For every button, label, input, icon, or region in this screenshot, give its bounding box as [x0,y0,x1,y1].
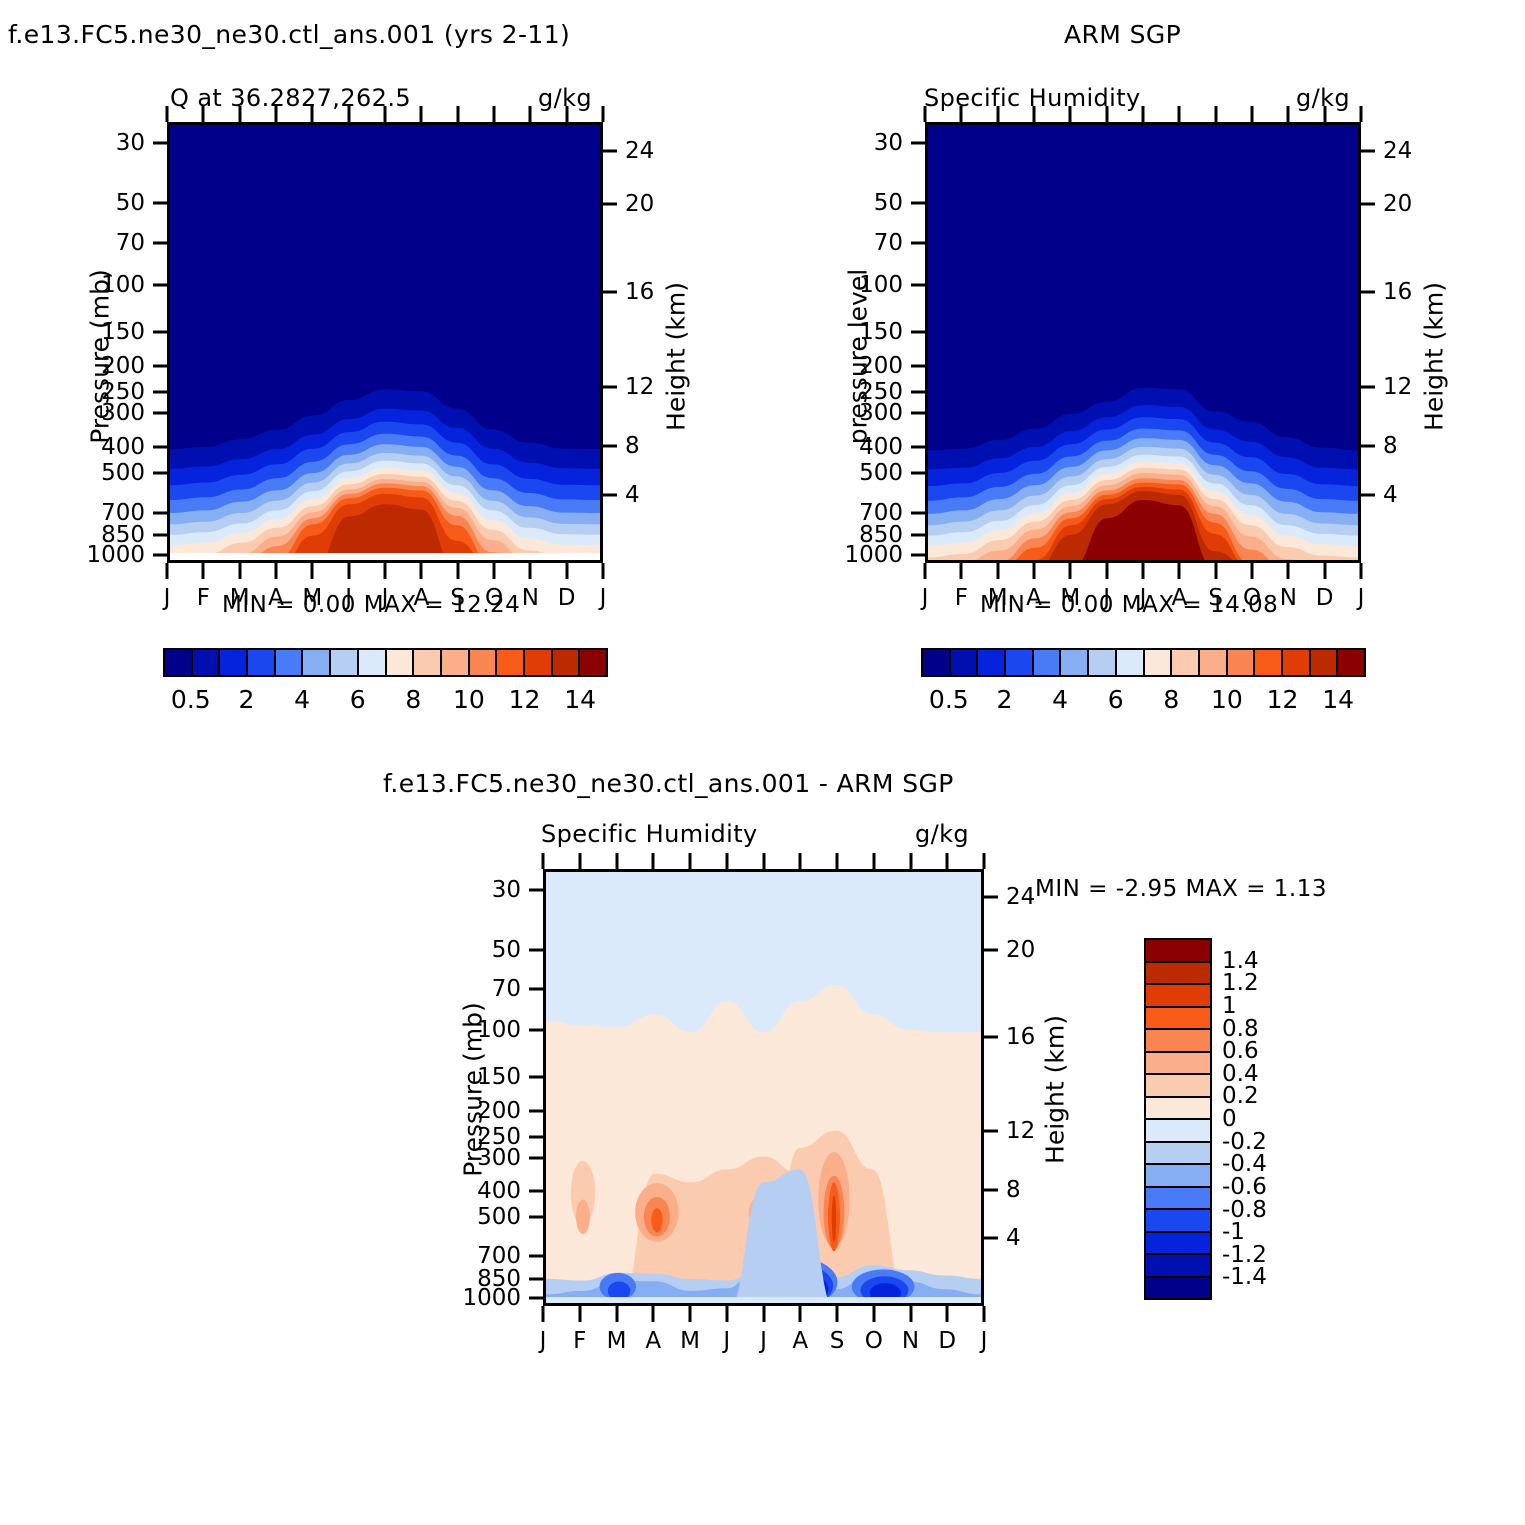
colorbar-cell[interactable] [1338,650,1364,675]
x-tick-top [578,853,581,869]
y-tick-label: 400 [67,434,145,460]
y2-tick [603,385,617,388]
colorbar-cell[interactable] [387,650,415,675]
y-tick-label: 200 [825,353,903,379]
y-tick [153,202,167,205]
colorbar-label: 2 [238,685,254,714]
x-tick-label: A [792,1328,808,1354]
x-tick-top [689,853,692,869]
colorbar-cell[interactable] [1034,650,1062,675]
y-tick [911,472,925,475]
x-tick-top [1251,106,1254,122]
x-tick-top [799,853,802,869]
x-tick-label: O [865,1328,883,1354]
y-tick-label: 1000 [443,1285,521,1311]
panel-obs-title: ARM SGP [1064,20,1181,49]
x-tick-label: J [1358,585,1365,611]
x-tick-top [983,853,986,869]
panel-diff-plot-area [543,869,984,1306]
x-tick-top [1105,106,1108,122]
y-tick [153,331,167,334]
colorbar-label: -1.4 [1222,1264,1267,1290]
y-tick-label: 150 [67,319,145,345]
y2-tick-label: 12 [1006,1118,1035,1144]
x-tick-top [872,853,875,869]
y-tick-label: 70 [443,976,521,1002]
colorbar-label: 14 [564,685,596,714]
y2-tick [603,445,617,448]
colorbar-cell[interactable] [1146,940,1210,963]
x-tick [1287,563,1290,579]
x-tick-top [602,106,605,122]
y-tick-label: 200 [67,353,145,379]
y2-tick [1361,385,1375,388]
y2-tick-label: 20 [625,191,654,217]
y-tick [529,1277,543,1280]
x-tick [578,1306,581,1322]
panel-diff-units: g/kg [915,820,969,848]
x-tick-top [1069,106,1072,122]
colorbar-label: 10 [453,685,485,714]
y-tick [911,241,925,244]
panel-model-minmax: MIN = 0.00 MAX = 12.24 [222,592,520,618]
x-tick-top [924,106,927,122]
x-tick [1142,563,1145,579]
colorbar-cell[interactable] [1146,963,1210,986]
x-tick [615,1306,618,1322]
x-tick [166,563,169,579]
colorbar-cell[interactable] [276,650,304,675]
x-tick [384,563,387,579]
colorbar-cell[interactable] [580,650,606,675]
y-tick [153,534,167,537]
y-tick [529,1296,543,1299]
x-tick [1033,563,1036,579]
colorbar-cell[interactable] [951,650,979,675]
colorbar-label: 0.5 [171,685,211,714]
x-tick-top [275,106,278,122]
x-tick-top [1323,106,1326,122]
colorbar-cell[interactable] [1117,650,1145,675]
y-tick [911,142,925,145]
colorbar-cell[interactable] [248,650,276,675]
x-tick [924,563,927,579]
y-tick [153,472,167,475]
x-tick [1069,563,1072,579]
y2-tick [603,202,617,205]
y2-tick-label: 4 [1006,1225,1021,1251]
y2-tick-label: 8 [1006,1177,1021,1203]
colorbar-cell[interactable] [1146,1278,1210,1299]
y-tick-label: 500 [825,460,903,486]
colorbar-cell[interactable] [1146,1255,1210,1278]
y-tick [911,511,925,514]
x-tick [1360,563,1363,579]
x-tick-top [1360,106,1363,122]
colorbar-cell[interactable] [1146,1098,1210,1121]
y-tick [911,390,925,393]
colorbar-label: 2 [996,685,1012,714]
surface-strip [170,553,600,560]
colorbar-cell[interactable] [220,650,248,675]
x-tick-label: J [723,1328,730,1354]
colorbar-cell[interactable] [442,650,470,675]
y-tick [911,202,925,205]
x-tick [311,563,314,579]
x-tick-label: N [1280,585,1297,611]
y2-tick [984,1036,998,1039]
x-tick [1105,563,1108,579]
y-tick-label: 100 [825,272,903,298]
x-tick-top [384,106,387,122]
y-tick-label: 50 [825,190,903,216]
y-tick [529,1190,543,1193]
y-tick-label: 50 [443,937,521,963]
x-tick [275,563,278,579]
x-tick-label: F [573,1328,586,1354]
colorbar-cell[interactable] [331,650,359,675]
y2-tick-label: 24 [1006,884,1035,910]
y2-tick [984,1130,998,1133]
y2-tick [603,149,617,152]
x-tick-top [529,106,532,122]
x-tick-label: N [902,1328,919,1354]
x-tick [1214,563,1217,579]
y-tick-label: 70 [825,230,903,256]
x-tick-top [542,853,545,869]
colorbar-label: 14 [1322,685,1354,714]
colorbar-cell[interactable] [1146,1053,1210,1076]
panel-obs-colorbar[interactable] [921,648,1366,677]
colorbar-cell[interactable] [303,650,331,675]
y-tick [529,1076,543,1079]
y-tick-label: 400 [443,1178,521,1204]
colorbar-label: 6 [350,685,366,714]
colorbar-cell[interactable] [978,650,1006,675]
y-tick-label: 500 [443,1204,521,1230]
y-tick-label: 500 [67,460,145,486]
panel-obs-plot-area [925,122,1361,563]
x-tick [456,563,459,579]
panel-diff-subtitle-left: Specific Humidity [541,820,758,848]
y-tick [529,1029,543,1032]
y-tick [529,1135,543,1138]
x-tick-top [615,853,618,869]
y-tick [153,511,167,514]
x-tick-label: D [1316,585,1334,611]
x-tick [529,563,532,579]
colorbar-cell[interactable] [1146,1165,1210,1188]
colorbar-cell[interactable] [1200,650,1228,675]
y2-tick-label: 24 [625,138,654,164]
panel-model-title: f.e13.FC5.ne30_ne30.ctl_ans.001 (yrs 2-1… [8,20,570,49]
colorbar-cell[interactable] [1061,650,1089,675]
x-tick-label: M [680,1328,700,1354]
x-tick [1251,563,1254,579]
y-tick [153,390,167,393]
y-tick [911,331,925,334]
y-tick [153,241,167,244]
colorbar-cell[interactable] [1146,1008,1210,1031]
x-tick [909,1306,912,1322]
y2-tick-label: 16 [1006,1024,1035,1050]
y-tick-label: 100 [67,272,145,298]
y-tick-label: 30 [825,130,903,156]
y2-tick [1361,445,1375,448]
x-tick-top [238,106,241,122]
colorbar-label: 6 [1108,685,1124,714]
diff-orange-feb-core [576,1200,590,1234]
x-tick-top [166,106,169,122]
x-tick-label: J [922,585,929,611]
y-tick [529,1109,543,1112]
y2-tick [1361,202,1375,205]
colorbar-cell[interactable] [193,650,221,675]
panel-diff-y2-axis-title: Height (km) [1041,980,1070,1200]
colorbar-cell[interactable] [1146,1030,1210,1053]
colorbar-cell[interactable] [497,650,525,675]
y-tick-label: 150 [443,1064,521,1090]
y-tick-label: 1000 [825,542,903,568]
x-tick [872,1306,875,1322]
x-tick-label: S [830,1328,845,1354]
y-tick-label: 200 [443,1098,521,1124]
x-tick-top [456,106,459,122]
y2-tick [984,1237,998,1240]
panel-model-colorbar[interactable] [163,648,608,677]
y-tick [911,446,925,449]
colorbar-cell[interactable] [359,650,387,675]
y2-tick [984,1189,998,1192]
y-tick [911,553,925,556]
x-tick [799,1306,802,1322]
x-tick-top [762,853,765,869]
colorbar-cell[interactable] [1089,650,1117,675]
y2-tick-label: 24 [1383,138,1412,164]
y2-tick-label: 12 [625,374,654,400]
y2-tick-label: 12 [1383,374,1412,400]
x-tick-label: N [522,585,539,611]
y-tick [153,553,167,556]
y-tick [911,412,925,415]
y-tick-label: 30 [443,877,521,903]
x-tick-top [960,106,963,122]
x-tick-top [311,106,314,122]
x-tick-label: J [540,1328,547,1354]
y2-tick-label: 20 [1383,191,1412,217]
colorbar-cell[interactable] [923,650,951,675]
colorbar-cell[interactable] [1146,1075,1210,1098]
colorbar-label: 4 [1052,685,1068,714]
colorbar-cell[interactable] [1146,1143,1210,1166]
panel-diff-colorbar[interactable] [1144,938,1212,1300]
y2-tick-label: 16 [1383,279,1412,305]
x-tick-top [1142,106,1145,122]
panel-diff-minmax: MIN = -2.95 MAX = 1.13 [1035,876,1327,902]
colorbar-cell[interactable] [1311,650,1339,675]
x-tick [689,1306,692,1322]
y2-tick-label: 8 [1383,433,1398,459]
x-tick-top [347,106,350,122]
x-tick-top [1287,106,1290,122]
x-tick-top [996,106,999,122]
colorbar-label: 12 [509,685,541,714]
x-tick [762,1306,765,1322]
x-tick [836,1306,839,1322]
y-tick [529,948,543,951]
y-tick-label: 300 [443,1145,521,1171]
panel-obs-y2-axis-title: Height (km) [1420,247,1449,467]
y-tick-label: 300 [67,400,145,426]
x-tick [996,563,999,579]
y2-tick [984,896,998,899]
x-tick-top [909,853,912,869]
colorbar-cell[interactable] [1255,650,1283,675]
colorbar-cell[interactable] [470,650,498,675]
x-tick-top [725,853,728,869]
x-tick [347,563,350,579]
x-tick [542,1306,545,1322]
x-tick-label: J [164,585,171,611]
x-tick-top [946,853,949,869]
x-tick [983,1306,986,1322]
x-tick [960,563,963,579]
colorbar-cell[interactable] [1172,650,1200,675]
y2-tick [1361,149,1375,152]
x-tick-top [420,106,423,122]
y-tick-label: 1000 [67,542,145,568]
y2-tick [984,948,998,951]
colorbar-cell[interactable] [414,650,442,675]
colorbar-label: 10 [1211,685,1243,714]
y-tick [529,987,543,990]
y-tick [153,412,167,415]
colorbar-cell[interactable] [165,650,193,675]
y-tick-label: 70 [67,230,145,256]
diff-orange-apr-peak [651,1208,662,1232]
x-tick [202,563,205,579]
x-tick [1178,563,1181,579]
y-tick [529,1216,543,1219]
y-tick [529,1255,543,1258]
colorbar-cell[interactable] [1145,650,1173,675]
x-tick-label: M [607,1328,627,1354]
colorbar-label: 8 [1163,685,1179,714]
x-tick-top [836,853,839,869]
colorbar-label: 12 [1267,685,1299,714]
x-tick [1323,563,1326,579]
colorbar-label: 0.5 [929,685,969,714]
y2-tick [1361,290,1375,293]
x-tick [725,1306,728,1322]
x-tick-label: F [197,585,210,611]
diff-red-sep-max-overlay [832,1195,836,1242]
y-tick [153,142,167,145]
y-tick-label: 150 [825,319,903,345]
x-tick-top [493,106,496,122]
colorbar-cell[interactable] [553,650,581,675]
x-tick [238,563,241,579]
panel-model-plot-area [167,122,603,563]
colorbar-cell[interactable] [1283,650,1311,675]
x-tick-top [1214,106,1217,122]
y2-tick [603,290,617,293]
panel-obs-minmax: MIN = 0.00 MAX = 14.08 [980,592,1278,618]
colorbar-cell[interactable] [1146,1210,1210,1233]
x-tick-top [1178,106,1181,122]
x-tick [652,1306,655,1322]
x-tick [946,1306,949,1322]
y2-tick-label: 8 [625,433,640,459]
x-tick-label: D [558,585,576,611]
x-tick-label: D [938,1328,956,1354]
colorbar-cell[interactable] [1228,650,1256,675]
colorbar-cell[interactable] [1146,1120,1210,1143]
colorbar-label: 8 [405,685,421,714]
x-tick [602,563,605,579]
y2-tick-label: 20 [1006,937,1035,963]
surface-strip [546,1297,981,1303]
y2-tick [1361,493,1375,496]
y-tick [911,283,925,286]
panel-model-y2-axis-title: Height (km) [662,247,691,467]
y-tick [529,889,543,892]
x-tick [493,563,496,579]
x-tick-label: A [645,1328,661,1354]
y2-tick-label: 16 [625,279,654,305]
panel-diff-title: f.e13.FC5.ne30_ne30.ctl_ans.001 - ARM SG… [383,769,954,798]
y2-tick-label: 4 [1383,482,1398,508]
y-tick [911,364,925,367]
y-tick [153,283,167,286]
y-tick [153,446,167,449]
colorbar-cell[interactable] [1146,985,1210,1008]
x-tick-top [652,853,655,869]
colorbar-cell[interactable] [1146,1188,1210,1211]
y-tick-label: 100 [443,1017,521,1043]
x-tick-label: F [955,585,968,611]
y2-tick-label: 4 [625,482,640,508]
y-tick [911,534,925,537]
panel-model-subtitle-left: Q at 36.2827,262.5 [170,84,411,112]
colorbar-label: 4 [294,685,310,714]
x-tick-label: J [981,1328,988,1354]
y-tick-label: 30 [67,130,145,156]
y-tick [529,1156,543,1159]
y-tick [153,364,167,367]
x-tick-top [565,106,568,122]
y-tick-label: 50 [67,190,145,216]
colorbar-cell[interactable] [525,650,553,675]
x-tick [565,563,568,579]
x-tick-label: J [760,1328,767,1354]
x-tick-label: J [600,585,607,611]
colorbar-cell[interactable] [1146,1233,1210,1256]
y-tick-label: 300 [825,400,903,426]
x-tick [420,563,423,579]
y-tick-label: 400 [825,434,903,460]
x-tick-top [1033,106,1036,122]
y2-tick [603,493,617,496]
colorbar-cell[interactable] [1006,650,1034,675]
x-tick-top [202,106,205,122]
